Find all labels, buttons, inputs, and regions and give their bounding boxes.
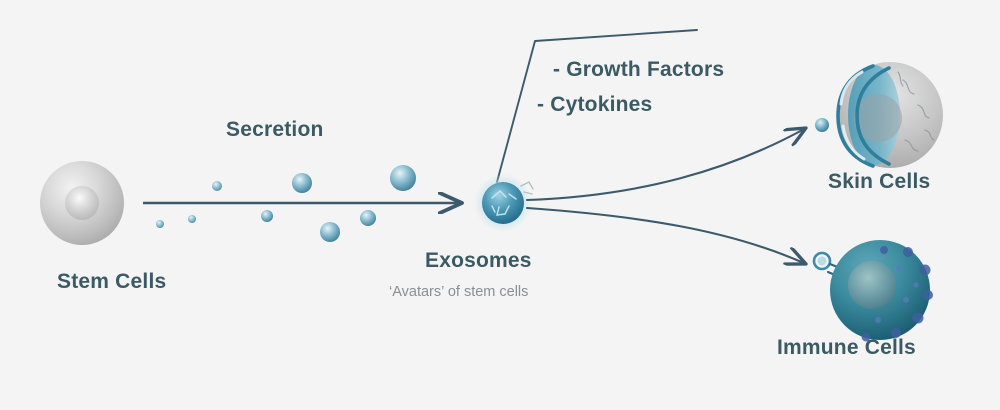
arrow-to-skin-cell bbox=[527, 128, 806, 200]
skin-cell-label: Skin Cells bbox=[828, 170, 930, 194]
diagram-canvas: Stem Cells Secretion Exosomes ‘Avatars’ … bbox=[0, 0, 1000, 410]
exosome-label: Exosomes bbox=[425, 249, 532, 273]
skin-exosome-dot bbox=[815, 118, 829, 132]
callout-item-cytokines: - Cytokines bbox=[537, 93, 652, 117]
skin-cell-graphic bbox=[837, 62, 943, 168]
secretion-label: Secretion bbox=[226, 118, 324, 142]
stem-cell-label: Stem Cells bbox=[57, 270, 166, 294]
arrow-to-immune-cell bbox=[527, 208, 806, 264]
callout-item-growth-factors: - Growth Factors bbox=[553, 58, 724, 82]
exosome-sublabel: ‘Avatars’ of stem cells bbox=[389, 284, 528, 300]
exosome-graphic bbox=[474, 174, 533, 232]
immune-cell-label: Immune Cells bbox=[777, 336, 916, 360]
immune-cell-graphic bbox=[830, 240, 933, 342]
stem-cell-graphic bbox=[40, 161, 124, 245]
